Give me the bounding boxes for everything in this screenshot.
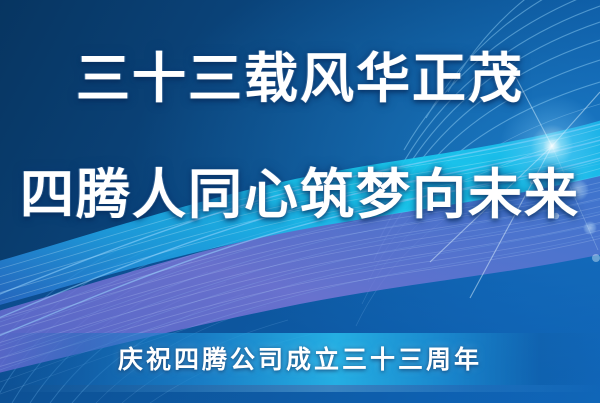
anniversary-banner: 三十三载风华正茂 四腾人同心筑梦向未来 庆祝四腾公司成立三十三周年 <box>0 0 600 403</box>
headline-line-1: 三十三载风华正茂 <box>0 52 600 106</box>
headline-line-2: 四腾人同心筑梦向未来 <box>0 168 600 222</box>
subtitle-text: 庆祝四腾公司成立三十三周年 <box>0 340 600 376</box>
headline-block: 三十三载风华正茂 四腾人同心筑梦向未来 <box>0 52 600 222</box>
